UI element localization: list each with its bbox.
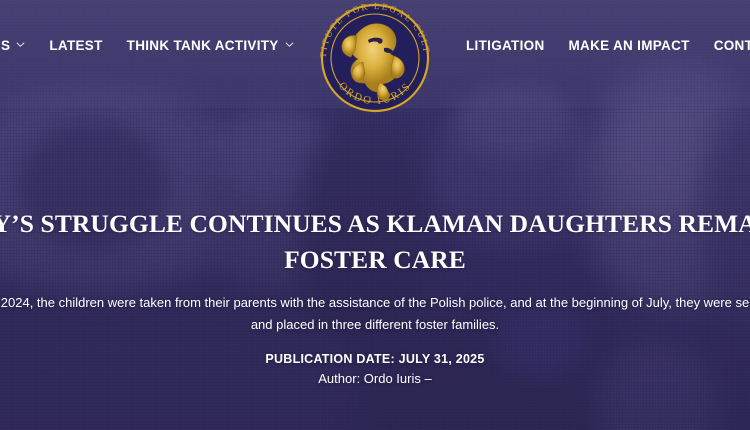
hero-text-block: H FAMILY’S STRUGGLE CONTINUES AS KLAMAN … <box>0 206 750 386</box>
article-meta: PUBLICATION DATE: JULY 31, 2025 Author: … <box>0 352 750 386</box>
site-logo[interactable]: INSTITUTE FOR LEGAL CULTURE ORDO IURIS <box>310 0 440 114</box>
nav-item-label: CONTACT US <box>714 38 750 53</box>
nav-right-group: LITIGATION MAKE AN IMPACT CONTACT US <box>466 38 750 53</box>
nav-item-label: MAKE AN IMPACT <box>569 38 690 53</box>
nav-left-group: O IURIS LATEST THINK TANK ACTIVITY <box>0 38 294 53</box>
nav-item-ordo-iuris[interactable]: O IURIS <box>0 38 25 53</box>
nav-item-make-an-impact[interactable]: MAKE AN IMPACT <box>569 38 690 53</box>
headline-line-1: H FAMILY’S STRUGGLE CONTINUES AS KLAMAN … <box>0 209 750 238</box>
publication-date: PUBLICATION DATE: JULY 31, 2025 <box>0 352 750 366</box>
ordo-iuris-crest-icon: INSTITUTE FOR LEGAL CULTURE ORDO IURIS <box>310 0 440 114</box>
hero-subtitle: e 2024, the children were taken from the… <box>0 292 750 336</box>
chevron-down-icon[interactable] <box>285 40 294 49</box>
nav-item-label: LITIGATION <box>466 38 545 53</box>
nav-item-label: LATEST <box>49 38 102 53</box>
chevron-down-icon[interactable] <box>16 40 25 49</box>
page-title: H FAMILY’S STRUGGLE CONTINUES AS KLAMAN … <box>0 206 750 278</box>
headline-line-2: FOSTER CARE <box>0 242 750 278</box>
nav-item-latest[interactable]: LATEST <box>49 38 102 53</box>
nav-item-contact-us[interactable]: CONTACT US <box>714 38 750 53</box>
nav-item-label: THINK TANK ACTIVITY <box>127 38 279 53</box>
nav-item-think-tank-activity[interactable]: THINK TANK ACTIVITY <box>127 38 294 53</box>
author-line: Author: Ordo Iuris – <box>0 371 750 386</box>
nav-item-litigation[interactable]: LITIGATION <box>466 38 545 53</box>
subtitle-line-1: e 2024, the children were taken from the… <box>0 295 750 310</box>
nav-item-label: O IURIS <box>0 38 10 53</box>
subtitle-line-2: and placed in three different foster fam… <box>0 314 750 336</box>
